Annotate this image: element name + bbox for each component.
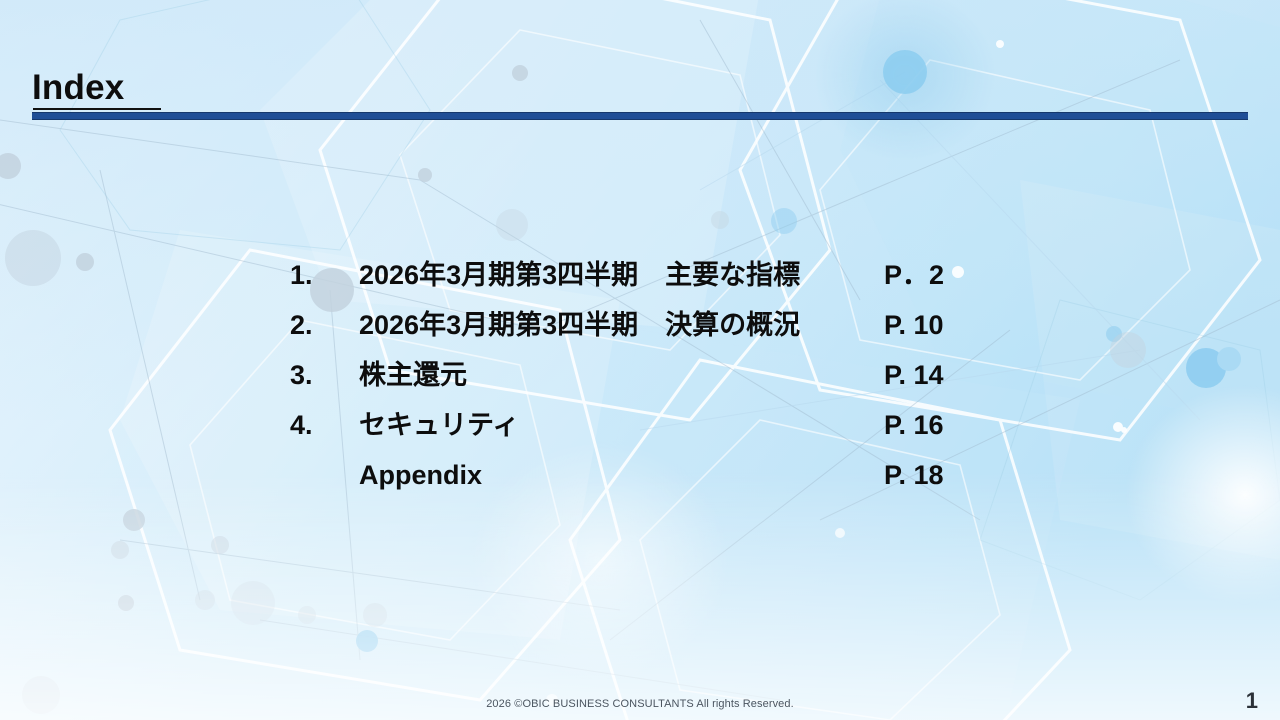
slide-canvas: Index 1. 2026年3月期第3四半期 主要な指標 P．2 2. 2026…: [0, 0, 1280, 720]
index-item-page: P. 14: [884, 358, 944, 392]
index-item-label[interactable]: 2026年3月期第3四半期 主要な指標: [359, 258, 884, 292]
index-row[interactable]: Appendix P. 18: [290, 458, 990, 508]
index-item-page: P. 18: [884, 458, 944, 492]
index-row[interactable]: 3. 株主還元 P. 14: [290, 358, 990, 408]
title-text-underline: [33, 108, 161, 110]
footer-copyright: 2026 ©OBIC BUSINESS CONSULTANTS All righ…: [0, 698, 1280, 710]
title-horizontal-rule: [32, 112, 1248, 120]
page-number: 1: [1246, 688, 1258, 714]
index-item-label[interactable]: Appendix: [359, 458, 884, 492]
index-row[interactable]: 4. セキュリティ P. 16: [290, 408, 990, 458]
index-item-label[interactable]: 株主還元: [359, 358, 884, 392]
index-item-number: 4.: [290, 408, 359, 442]
index-item-label[interactable]: 2026年3月期第3四半期 決算の概況: [359, 308, 884, 342]
title-block: Index: [32, 68, 1248, 128]
index-item-number: 2.: [290, 308, 359, 342]
index-list: 1. 2026年3月期第3四半期 主要な指標 P．2 2. 2026年3月期第3…: [290, 258, 990, 508]
index-item-page: P. 10: [884, 308, 944, 342]
index-row[interactable]: 2. 2026年3月期第3四半期 決算の概況 P. 10: [290, 308, 990, 358]
index-item-label[interactable]: セキュリティ: [359, 408, 884, 442]
index-item-page: P．2: [884, 258, 944, 292]
index-item-page: P. 16: [884, 408, 944, 442]
index-item-number: 1.: [290, 258, 359, 292]
index-row[interactable]: 1. 2026年3月期第3四半期 主要な指標 P．2: [290, 258, 990, 308]
page-title: Index: [32, 68, 124, 108]
index-item-number: 3.: [290, 358, 359, 392]
